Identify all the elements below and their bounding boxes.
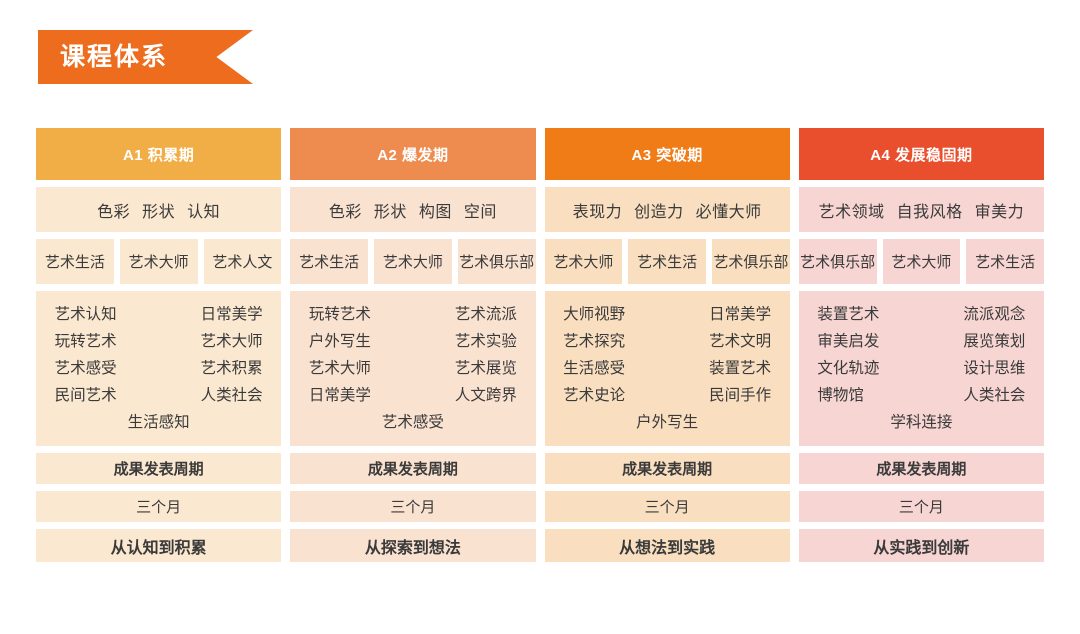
skill-token: 色彩 <box>91 198 136 222</box>
course-list: 玩转艺术艺术流派户外写生艺术实验艺术大师艺术展览日常美学人文跨界艺术感受 <box>290 291 535 446</box>
outcome-label: 从想法到实践 <box>545 529 790 562</box>
outcome-label: 从认知到积累 <box>36 529 281 562</box>
course-item: 艺术大师 <box>309 355 371 382</box>
stage-header[interactable]: A4 发展稳固期 <box>799 128 1044 180</box>
cycle-label: 成果发表周期 <box>545 453 790 484</box>
stage-header[interactable]: A1 积累期 <box>36 128 281 180</box>
course-row: 日常美学人文跨界 <box>309 382 517 409</box>
title-ribbon: 课程体系 <box>38 30 253 84</box>
tag-chip[interactable]: 艺术大师 <box>545 239 623 284</box>
course-item: 艺术文明 <box>709 328 771 355</box>
stage-column: A2 爆发期色彩形状构图空间艺术生活艺术大师艺术俱乐部玩转艺术艺术流派户外写生艺… <box>290 128 535 562</box>
tag-chip[interactable]: 艺术俱乐部 <box>712 239 790 284</box>
outcome-label: 从探索到想法 <box>290 529 535 562</box>
course-item: 学科连接 <box>890 409 952 436</box>
skill-token: 形状 <box>136 198 181 222</box>
course-item: 艺术大师 <box>201 328 263 355</box>
skills-band: 艺术领域自我风格审美力 <box>799 187 1044 232</box>
course-list: 艺术认知日常美学玩转艺术艺术大师艺术感受艺术积累民间艺术人类社会生活感知 <box>36 291 281 446</box>
course-row: 艺术史论民间手作 <box>563 382 771 409</box>
stage-header[interactable]: A3 突破期 <box>545 128 790 180</box>
cycle-value: 三个月 <box>799 491 1044 522</box>
course-item: 装置艺术 <box>817 301 879 328</box>
course-row: 玩转艺术艺术大师 <box>55 328 263 355</box>
outcome-label: 从实践到创新 <box>799 529 1044 562</box>
skill-token: 色彩 <box>323 198 368 222</box>
cycle-value: 三个月 <box>290 491 535 522</box>
tag-chip[interactable]: 艺术大师 <box>883 239 961 284</box>
course-item: 生活感知 <box>128 409 190 436</box>
course-list: 装置艺术流派观念审美启发展览策划文化轨迹设计思维博物馆人类社会学科连接 <box>799 291 1044 446</box>
course-item: 装置艺术 <box>709 355 771 382</box>
page-title: 课程体系 <box>38 45 168 70</box>
course-item: 人文跨界 <box>455 382 517 409</box>
skill-token: 自我风格 <box>891 198 969 222</box>
stage-column: A3 突破期表现力创造力必懂大师艺术大师艺术生活艺术俱乐部大师视野日常美学艺术探… <box>545 128 790 562</box>
course-item: 日常美学 <box>309 382 371 409</box>
cycle-value: 三个月 <box>36 491 281 522</box>
tag-chip[interactable]: 艺术生活 <box>36 239 114 284</box>
tag-row: 艺术俱乐部艺术大师艺术生活 <box>799 239 1044 284</box>
tag-row: 艺术生活艺术大师艺术人文 <box>36 239 281 284</box>
skill-token: 艺术领域 <box>813 198 891 222</box>
course-list: 大师视野日常美学艺术探究艺术文明生活感受装置艺术艺术史论民间手作户外写生 <box>545 291 790 446</box>
skills-band: 表现力创造力必懂大师 <box>545 187 790 232</box>
tag-chip[interactable]: 艺术俱乐部 <box>799 239 877 284</box>
course-item: 艺术积累 <box>201 355 263 382</box>
course-row: 博物馆人类社会 <box>817 382 1025 409</box>
course-item: 大师视野 <box>563 301 625 328</box>
course-item: 艺术流派 <box>455 301 517 328</box>
course-row: 文化轨迹设计思维 <box>817 355 1025 382</box>
course-row: 民间艺术人类社会 <box>55 382 263 409</box>
course-row: 生活感受装置艺术 <box>563 355 771 382</box>
course-item: 户外写生 <box>636 409 698 436</box>
course-item: 玩转艺术 <box>55 328 117 355</box>
course-item: 艺术展览 <box>455 355 517 382</box>
course-item: 日常美学 <box>201 301 263 328</box>
stage-column: A1 积累期色彩形状认知艺术生活艺术大师艺术人文艺术认知日常美学玩转艺术艺术大师… <box>36 128 281 562</box>
tag-chip[interactable]: 艺术大师 <box>120 239 198 284</box>
skill-token: 审美力 <box>969 198 1031 222</box>
stage-columns: A1 积累期色彩形状认知艺术生活艺术大师艺术人文艺术认知日常美学玩转艺术艺术大师… <box>36 128 1044 562</box>
cycle-value: 三个月 <box>545 491 790 522</box>
skills-band: 色彩形状认知 <box>36 187 281 232</box>
skill-token: 必懂大师 <box>690 198 768 222</box>
course-system-diagram: 课程体系 A1 积累期色彩形状认知艺术生活艺术大师艺术人文艺术认知日常美学玩转艺… <box>0 0 1080 634</box>
course-item: 民间手作 <box>709 382 771 409</box>
course-row: 艺术大师艺术展览 <box>309 355 517 382</box>
course-item: 艺术实验 <box>455 328 517 355</box>
stage-header[interactable]: A2 爆发期 <box>290 128 535 180</box>
course-item: 展览策划 <box>963 328 1025 355</box>
skill-token: 构图 <box>413 198 458 222</box>
course-item: 艺术感受 <box>382 409 444 436</box>
course-item: 博物馆 <box>817 382 864 409</box>
course-row: 艺术探究艺术文明 <box>563 328 771 355</box>
tag-chip[interactable]: 艺术生活 <box>290 239 368 284</box>
course-item: 民间艺术 <box>55 382 117 409</box>
course-item: 艺术认知 <box>55 301 117 328</box>
skill-token: 表现力 <box>567 198 629 222</box>
course-row: 户外写生艺术实验 <box>309 328 517 355</box>
skills-band: 色彩形状构图空间 <box>290 187 535 232</box>
tag-chip[interactable]: 艺术俱乐部 <box>458 239 536 284</box>
course-row: 大师视野日常美学 <box>563 301 771 328</box>
cycle-label: 成果发表周期 <box>290 453 535 484</box>
ribbon-shape: 课程体系 <box>38 30 253 84</box>
tag-chip[interactable]: 艺术大师 <box>374 239 452 284</box>
course-item: 设计思维 <box>963 355 1025 382</box>
course-item: 艺术史论 <box>563 382 625 409</box>
cycle-label: 成果发表周期 <box>36 453 281 484</box>
course-item: 艺术感受 <box>55 355 117 382</box>
course-item: 户外写生 <box>309 328 371 355</box>
course-item: 生活感受 <box>563 355 625 382</box>
course-item: 艺术探究 <box>563 328 625 355</box>
course-row: 审美启发展览策划 <box>817 328 1025 355</box>
course-row: 艺术感受艺术积累 <box>55 355 263 382</box>
course-item: 文化轨迹 <box>817 355 879 382</box>
course-item: 玩转艺术 <box>309 301 371 328</box>
skill-token: 创造力 <box>628 198 690 222</box>
course-row: 玩转艺术艺术流派 <box>309 301 517 328</box>
tag-chip[interactable]: 艺术生活 <box>966 239 1044 284</box>
tag-chip[interactable]: 艺术人文 <box>204 239 282 284</box>
tag-row: 艺术生活艺术大师艺术俱乐部 <box>290 239 535 284</box>
tag-row: 艺术大师艺术生活艺术俱乐部 <box>545 239 790 284</box>
course-item: 日常美学 <box>709 301 771 328</box>
stage-column: A4 发展稳固期艺术领域自我风格审美力艺术俱乐部艺术大师艺术生活装置艺术流派观念… <box>799 128 1044 562</box>
skill-token: 认知 <box>181 198 226 222</box>
cycle-label: 成果发表周期 <box>799 453 1044 484</box>
course-item: 审美启发 <box>817 328 879 355</box>
course-item: 人类社会 <box>963 382 1025 409</box>
course-item: 流派观念 <box>963 301 1025 328</box>
course-item: 人类社会 <box>201 382 263 409</box>
tag-chip[interactable]: 艺术生活 <box>628 239 706 284</box>
course-row: 装置艺术流派观念 <box>817 301 1025 328</box>
course-row: 艺术认知日常美学 <box>55 301 263 328</box>
skill-token: 形状 <box>368 198 413 222</box>
skill-token: 空间 <box>458 198 503 222</box>
